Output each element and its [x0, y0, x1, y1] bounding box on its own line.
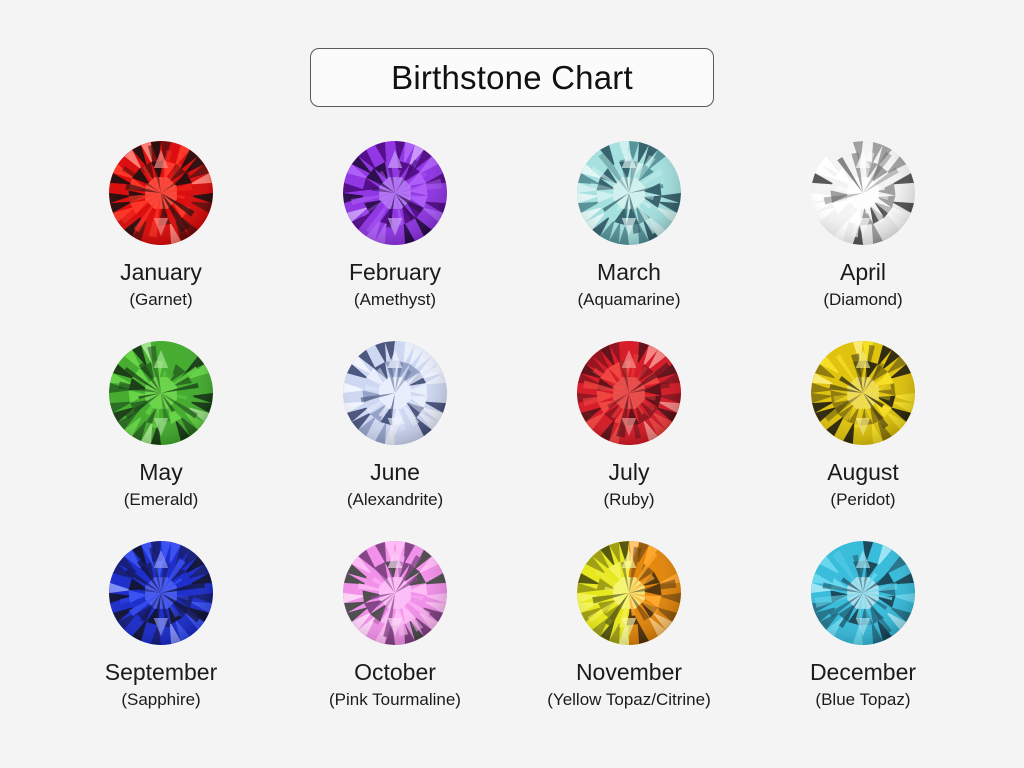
- stone-name-label: (Aquamarine): [578, 291, 681, 309]
- month-label: December: [810, 660, 916, 684]
- birthstone-grid: January(Garnet)February(Amethyst)March(A…: [44, 140, 980, 740]
- month-label: February: [349, 260, 441, 284]
- gem-icon: [342, 340, 448, 446]
- stone-name-label: (Pink Tourmaline): [329, 691, 461, 709]
- gem-icon: [576, 140, 682, 246]
- gem-icon: [342, 140, 448, 246]
- birthstone-cell-december[interactable]: December(Blue Topaz): [746, 540, 980, 740]
- month-label: January: [120, 260, 202, 284]
- gem-icon: [576, 340, 682, 446]
- gem-icon: [108, 540, 214, 646]
- month-label: August: [827, 460, 899, 484]
- birthstone-cell-june[interactable]: June(Alexandrite): [278, 340, 512, 540]
- title-box: Birthstone Chart: [310, 48, 714, 107]
- title-bar: Birthstone Chart: [0, 48, 1024, 107]
- stone-name-label: (Ruby): [603, 491, 654, 509]
- birthstone-cell-august[interactable]: August(Peridot): [746, 340, 980, 540]
- gem-icon: [810, 140, 916, 246]
- birthstone-cell-march[interactable]: March(Aquamarine): [512, 140, 746, 340]
- gem-icon: [810, 540, 916, 646]
- stone-name-label: (Alexandrite): [347, 491, 443, 509]
- page-title: Birthstone Chart: [391, 61, 633, 94]
- stone-name-label: (Yellow Topaz/Citrine): [547, 691, 710, 709]
- month-label: April: [840, 260, 886, 284]
- stone-name-label: (Amethyst): [354, 291, 436, 309]
- month-label: June: [370, 460, 420, 484]
- month-label: May: [139, 460, 182, 484]
- month-label: July: [609, 460, 650, 484]
- birthstone-cell-november[interactable]: November(Yellow Topaz/Citrine): [512, 540, 746, 740]
- gem-icon: [342, 540, 448, 646]
- stone-name-label: (Emerald): [124, 491, 199, 509]
- gem-icon: [576, 540, 682, 646]
- month-label: October: [354, 660, 436, 684]
- month-label: September: [105, 660, 218, 684]
- birthstone-cell-september[interactable]: September(Sapphire): [44, 540, 278, 740]
- gem-icon: [108, 140, 214, 246]
- birthstone-cell-april[interactable]: April(Diamond): [746, 140, 980, 340]
- birthstone-cell-july[interactable]: July(Ruby): [512, 340, 746, 540]
- birthstone-cell-january[interactable]: January(Garnet): [44, 140, 278, 340]
- stone-name-label: (Sapphire): [121, 691, 200, 709]
- birthstone-cell-october[interactable]: October(Pink Tourmaline): [278, 540, 512, 740]
- month-label: November: [576, 660, 682, 684]
- stone-name-label: (Peridot): [830, 491, 895, 509]
- month-label: March: [597, 260, 661, 284]
- gem-icon: [108, 340, 214, 446]
- birthstone-cell-february[interactable]: February(Amethyst): [278, 140, 512, 340]
- gem-icon: [810, 340, 916, 446]
- birthstone-cell-may[interactable]: May(Emerald): [44, 340, 278, 540]
- stone-name-label: (Garnet): [129, 291, 192, 309]
- stone-name-label: (Diamond): [823, 291, 902, 309]
- stone-name-label: (Blue Topaz): [815, 691, 910, 709]
